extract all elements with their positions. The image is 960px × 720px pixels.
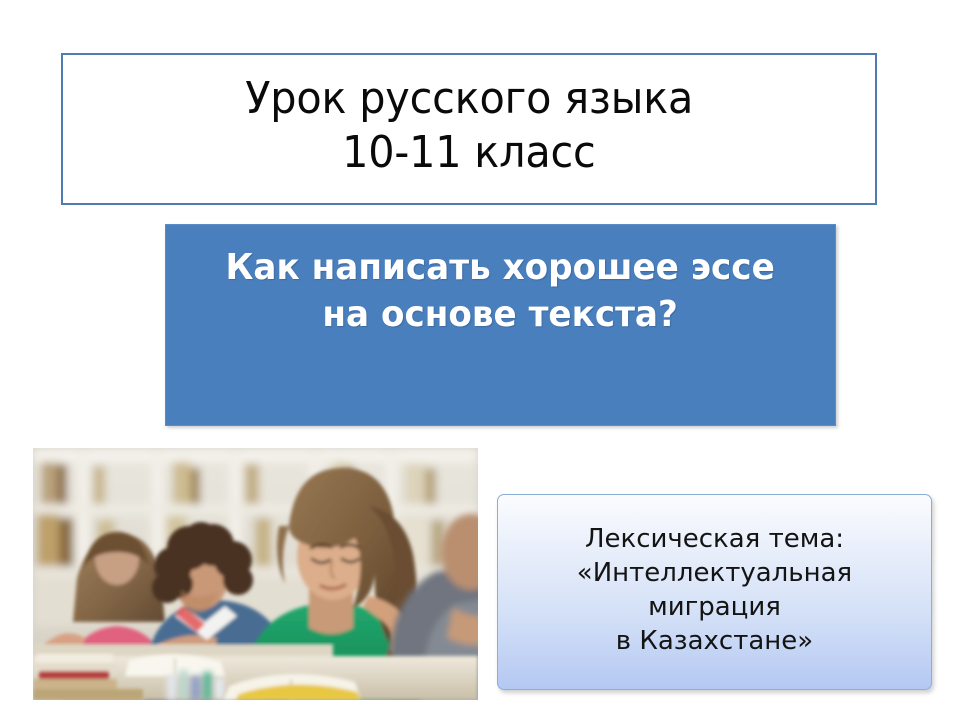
students-photo[interactable] <box>33 448 478 700</box>
lexical-line-4: в Казахстане» <box>616 624 813 658</box>
lexical-line-3: миграция <box>648 590 781 624</box>
question-line-2: на основе текста? <box>323 292 678 339</box>
question-box[interactable]: Как написать хорошее эссе на основе текс… <box>165 224 836 426</box>
title-line-1: Урок русского языка <box>245 72 693 126</box>
lexical-line-1: Лексическая тема: <box>585 522 844 556</box>
lexical-line-2: «Интеллектуальная <box>577 556 852 590</box>
question-line-1: Как написать хорошее эссе <box>226 245 775 292</box>
lexical-theme-box[interactable]: Лексическая тема: «Интеллектуальная мигр… <box>497 494 932 690</box>
title-box[interactable]: Урок русского языка 10-11 класс <box>61 53 877 205</box>
slide-canvas: Урок русского языка 10-11 класс Как напи… <box>0 0 960 720</box>
title-line-2: 10-11 класс <box>342 126 596 180</box>
students-photo-illustration <box>33 448 478 700</box>
